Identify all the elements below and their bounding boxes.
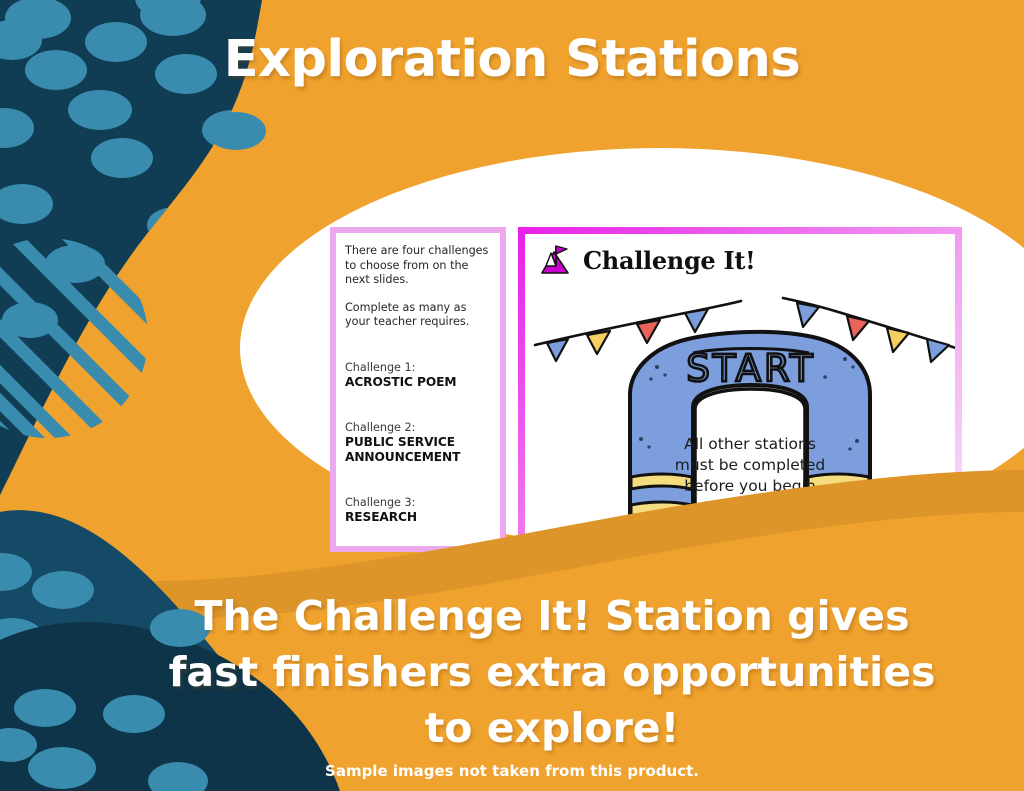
page-disclaimer: Sample images not taken from this produc…	[0, 762, 1024, 780]
slide-canvas: Exploration Stations There are four chal…	[0, 0, 1024, 791]
page-title: Exploration Stations	[0, 30, 1024, 89]
page-caption: The Challenge It! Station gives fast fin…	[150, 588, 954, 756]
